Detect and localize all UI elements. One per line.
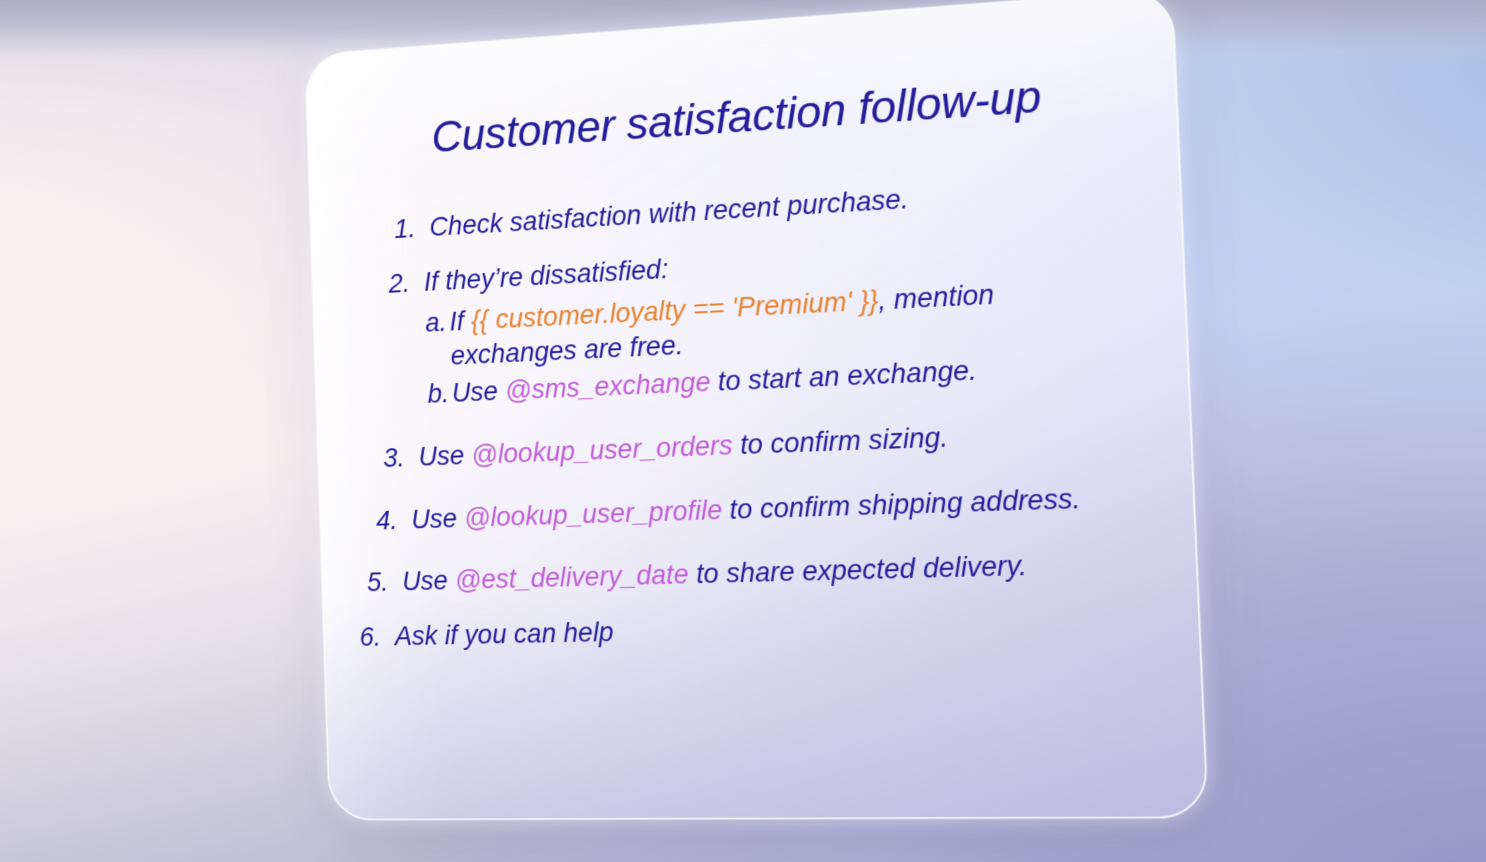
instruction-step: 4.Use @lookup_user_profile to confirm sh… (363, 478, 1139, 538)
substep-marker: a. (425, 304, 450, 340)
step-text: to share expected delivery. (688, 549, 1027, 589)
step-number: 6. (346, 619, 395, 655)
screen: Customer satisfaction follow-up 1.Check … (0, 0, 1486, 862)
step-text: to confirm sizing. (732, 421, 949, 460)
card-content: Customer satisfaction follow-up 1.Check … (306, 0, 1207, 819)
tool-mention[interactable]: @est_delivery_date (455, 559, 690, 596)
step-text: Ask if you can help (394, 616, 614, 651)
step-text: Check satisfaction with recent purchase. (429, 183, 909, 242)
template-variable: {{ customer.loyalty == 'Premium' }} (470, 284, 878, 335)
tool-mention[interactable]: @lookup_user_profile (464, 493, 723, 532)
step-body: Use @lookup_user_orders to confirm sizin… (418, 411, 1135, 474)
step-text: Use (402, 565, 456, 597)
step-text: to start an exchange. (710, 354, 978, 397)
step-text: Use (451, 375, 505, 408)
tool-mention[interactable]: @lookup_user_orders (471, 429, 733, 469)
step-text: Use (418, 439, 472, 471)
instruction-step-list: 1.Check satisfaction with recent purchas… (364, 168, 1143, 655)
step-number: 3. (370, 439, 419, 476)
card-scene: Customer satisfaction follow-up 1.Check … (0, 0, 1486, 862)
instruction-step: 6.Ask if you can help (346, 603, 1143, 655)
step-text: If they’re dissatisfied: (423, 253, 668, 297)
step-number: 1. (381, 210, 430, 247)
step-number: 2. (375, 264, 424, 301)
step-text: If (449, 305, 472, 336)
step-body: Use @lookup_user_profile to confirm ship… (411, 478, 1138, 537)
step-body: Ask if you can help (394, 603, 1143, 654)
step-text: to confirm shipping address. (721, 482, 1081, 525)
step-body: Use @est_delivery_date to share expected… (402, 544, 1141, 599)
step-text: Use (411, 502, 465, 534)
step-number: 4. (363, 502, 412, 538)
page-title: Customer satisfaction follow-up (361, 64, 1121, 167)
step-number: 5. (354, 564, 403, 600)
step-body: If they’re dissatisfied:a.If {{ customer… (423, 225, 1132, 411)
substep-marker: b. (427, 375, 452, 411)
instruction-card: Customer satisfaction follow-up 1.Check … (306, 0, 1207, 819)
instruction-step: 3.Use @lookup_user_orders to confirm siz… (370, 411, 1136, 475)
tool-mention[interactable]: @sms_exchange (505, 366, 711, 406)
instruction-step: 2.If they’re dissatisfied:a.If {{ custom… (375, 225, 1132, 413)
instruction-step: 5.Use @est_delivery_date to share expect… (354, 544, 1141, 600)
